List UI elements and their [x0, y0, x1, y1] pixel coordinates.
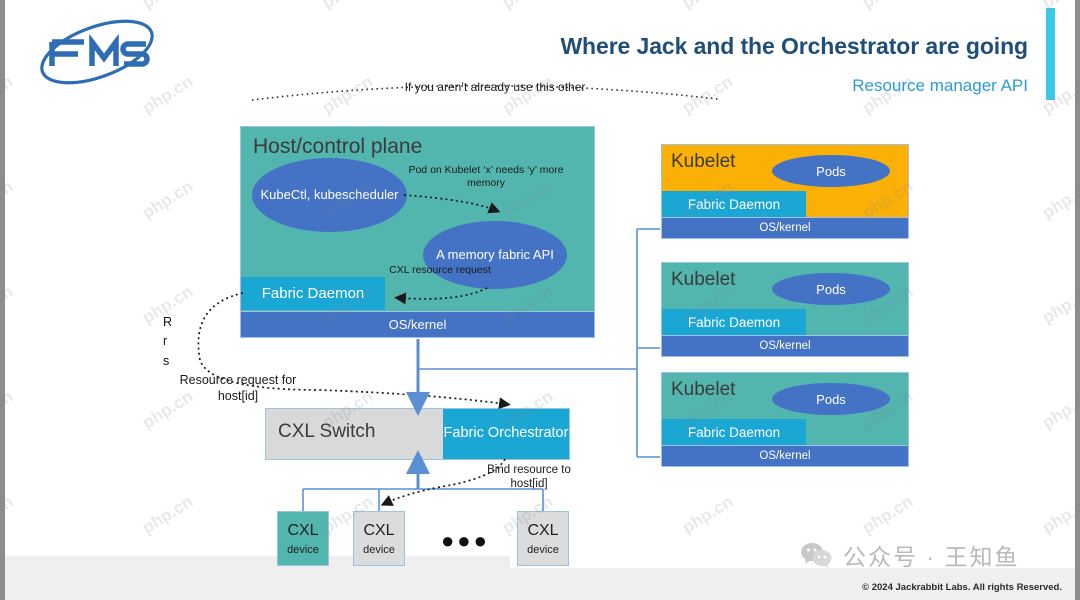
pod-memory-note: Pod on Kubelet ‘x’ needs ‘y’ more memory: [396, 164, 576, 190]
kubelet-os-kernel: OS/kernel: [661, 217, 909, 239]
host-fabric-daemon: Fabric Daemon: [241, 277, 385, 310]
copyright-text: © 2024 Jackrabbit Labs. All rights Reser…: [862, 582, 1062, 593]
cxl-device-2: CXL device: [353, 511, 405, 566]
cxl-device-subtitle: device: [287, 544, 319, 556]
watermark-text: php.cn: [859, 492, 917, 538]
wechat-icon: [800, 541, 834, 569]
kubelet-fabric-daemon: Fabric Daemon: [662, 191, 806, 217]
kubelet-fabric-daemon: Fabric Daemon: [662, 309, 806, 335]
kubelet-title: Kubelet: [671, 269, 735, 291]
host-os-kernel: OS/kernel: [240, 311, 595, 338]
cxl-device-title: CXL: [527, 522, 558, 540]
bind-resource-note: Bind resource to host[id]: [483, 463, 575, 492]
watermark-text: php.cn: [319, 72, 377, 118]
cxl-switch-label: CXL Switch: [278, 421, 376, 443]
kubelet-title: Kubelet: [671, 151, 735, 173]
wechat-handle: 公众号 · 王知鱼: [843, 538, 1019, 572]
watermark-text: php.cn: [1039, 282, 1080, 328]
watermark-text: php.cn: [859, 0, 917, 13]
kubelet-fabric-daemon: Fabric Daemon: [662, 419, 806, 445]
cxl-resource-request-note: CXL resource request: [384, 264, 496, 277]
memory-fabric-api-node: A memory fabric API: [423, 221, 567, 289]
watermark-text: php.cn: [319, 0, 377, 13]
cxl-device-title: CXL: [363, 522, 394, 540]
cxl-device-subtitle: device: [363, 544, 395, 556]
watermark-text: php.cn: [139, 0, 197, 13]
page-title: Where Jack and the Orchestrator are goin…: [560, 33, 1028, 60]
kubelet-pods: Pods: [772, 383, 890, 415]
cxl-device-1: CXL device: [277, 511, 329, 566]
watermark-text: php.cn: [1039, 387, 1080, 433]
watermark-text: php.cn: [1039, 492, 1080, 538]
bottom-band-notch: [5, 556, 510, 568]
watermark-text: php.cn: [499, 72, 557, 118]
accent-bar: [1046, 8, 1055, 100]
kubelet-node-2: Kubelet Pods Fabric Daemon OS/kernel: [661, 262, 909, 354]
kubectl-scheduler-node: KubeCtl, kubescheduler: [252, 158, 407, 232]
kubelet-node-3: Kubelet Pods Fabric Daemon OS/kernel: [661, 372, 909, 464]
cxl-device-subtitle: device: [527, 544, 559, 556]
watermark-text: php.cn: [139, 177, 197, 223]
host-control-plane-title: Host/control plane: [253, 135, 422, 159]
watermark-text: php.cn: [499, 0, 557, 13]
slide-canvas: Where Jack and the Orchestrator are goin…: [0, 0, 1080, 600]
wechat-watermark: 公众号 · 王知鱼: [800, 538, 1019, 572]
kubelet-os-kernel: OS/kernel: [661, 335, 909, 357]
clipped-left-text: R r s: [163, 313, 185, 371]
cxl-device-3: CXL device: [517, 511, 569, 566]
watermark-text: php.cn: [1039, 177, 1080, 223]
device-ellipsis: ●●●: [441, 528, 490, 554]
watermark-text: php.cn: [679, 0, 737, 13]
top-arc-note: If you aren’t already use this other: [370, 80, 620, 95]
right-edge-bar: [1075, 0, 1080, 600]
kubelet-pods: Pods: [772, 155, 890, 187]
kubelet-title: Kubelet: [671, 379, 735, 401]
kubelet-node-1: Kubelet Pods Fabric Daemon OS/kernel: [661, 144, 909, 236]
kubelet-pods: Pods: [772, 273, 890, 305]
cxl-device-title: CXL: [287, 522, 318, 540]
watermark-text: php.cn: [679, 72, 737, 118]
resource-request-note: Resource request for host[id]: [173, 373, 303, 404]
watermark-text: php.cn: [679, 492, 737, 538]
page-subtitle: Resource manager API: [852, 76, 1028, 96]
watermark-text: php.cn: [139, 492, 197, 538]
kubelet-os-kernel: OS/kernel: [661, 445, 909, 467]
fms-logo-icon: [22, 16, 172, 88]
left-edge-bar: [0, 0, 5, 600]
fabric-orchestrator-box: Fabric Orchestrator: [443, 409, 569, 459]
